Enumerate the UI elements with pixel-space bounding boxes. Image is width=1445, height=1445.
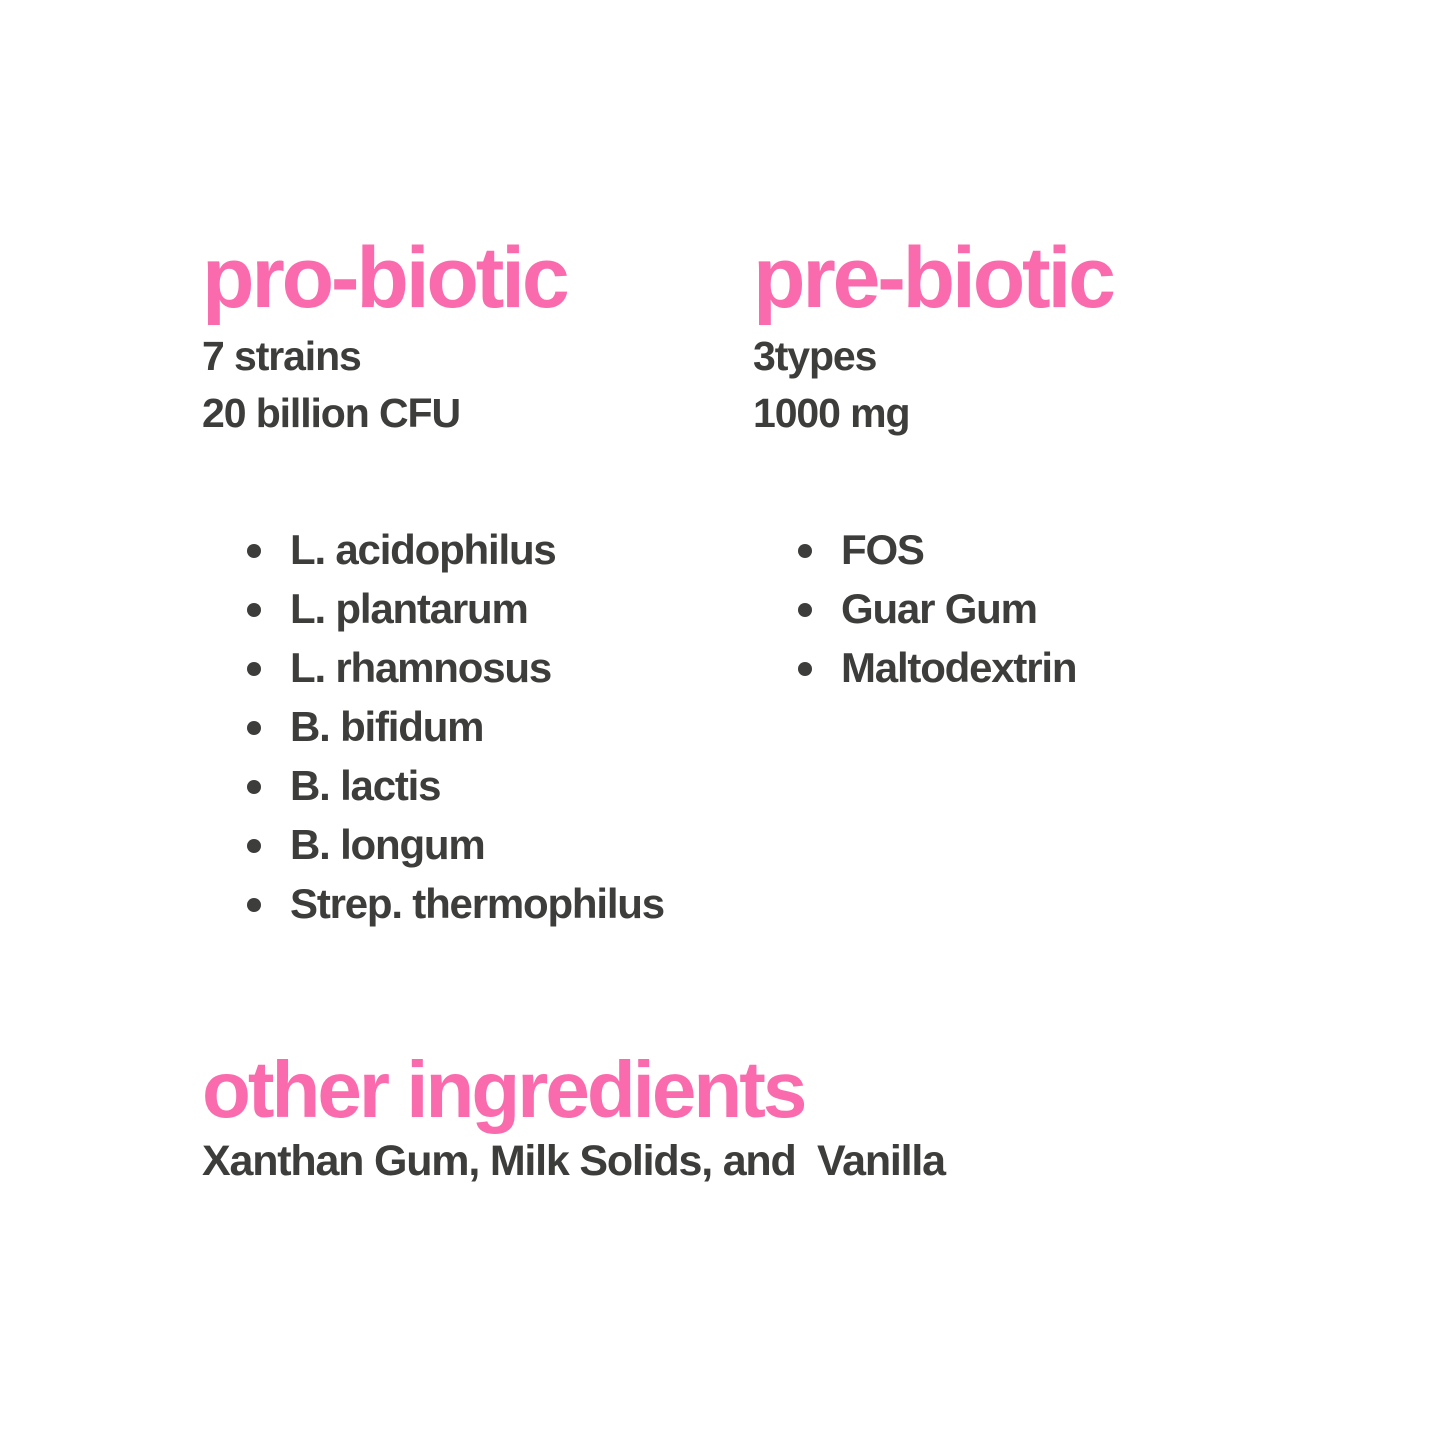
other-ingredients-list: Xanthan Gum, Milk Solids, and Vanilla: [202, 1135, 1302, 1189]
bullet-dot-icon: [798, 544, 812, 558]
ingredient-panel: pro-biotic 7 strains 20 billion CFU L. a…: [0, 0, 1445, 1445]
other-ingredients-heading: other ingredients: [202, 1051, 1302, 1129]
probiotic-heading: pro-biotic: [202, 236, 747, 320]
list-item: Maltodextrin: [795, 638, 1076, 697]
list-item-label: Strep. thermophilus: [290, 880, 664, 927]
list-item: L. acidophilus: [244, 520, 664, 579]
list-item-label: L. rhamnosus: [290, 644, 551, 691]
bullet-dot-icon: [798, 603, 812, 617]
prebiotic-type-count: 3types: [753, 328, 1298, 385]
bullet-dot-icon: [247, 780, 261, 794]
probiotic-strain-count: 7 strains: [202, 328, 747, 385]
prebiotic-column: pre-biotic 3types 1000 mg FOS Guar Gum M…: [753, 236, 1298, 441]
list-item: Strep. thermophilus: [244, 874, 664, 933]
probiotic-subtitles: 7 strains 20 billion CFU: [202, 328, 747, 441]
bullet-dot-icon: [247, 603, 261, 617]
list-item-label: L. plantarum: [290, 585, 528, 632]
list-item-label: B. lactis: [290, 762, 440, 809]
bullet-dot-icon: [247, 662, 261, 676]
bullet-dot-icon: [247, 544, 261, 558]
list-item-label: Guar Gum: [841, 585, 1037, 632]
prebiotic-heading: pre-biotic: [753, 236, 1298, 320]
list-item: FOS: [795, 520, 1076, 579]
list-item: B. longum: [244, 815, 664, 874]
prebiotic-dosage: 1000 mg: [753, 385, 1298, 442]
bullet-dot-icon: [247, 721, 261, 735]
bullet-dot-icon: [247, 839, 261, 853]
prebiotic-type-list: FOS Guar Gum Maltodextrin: [795, 520, 1076, 697]
list-item: L. plantarum: [244, 579, 664, 638]
list-item: L. rhamnosus: [244, 638, 664, 697]
list-item-label: B. bifidum: [290, 703, 483, 750]
bullet-dot-icon: [247, 898, 261, 912]
probiotic-cfu-count: 20 billion CFU: [202, 385, 747, 442]
prebiotic-subtitles: 3types 1000 mg: [753, 328, 1298, 441]
probiotic-strain-list: L. acidophilus L. plantarum L. rhamnosus…: [244, 520, 664, 933]
list-item-label: FOS: [841, 526, 924, 573]
list-item-label: B. longum: [290, 821, 485, 868]
list-item: B. lactis: [244, 756, 664, 815]
probiotic-column: pro-biotic 7 strains 20 billion CFU L. a…: [202, 236, 747, 441]
list-item: Guar Gum: [795, 579, 1076, 638]
bullet-dot-icon: [798, 662, 812, 676]
other-ingredients-section: other ingredients Xanthan Gum, Milk Soli…: [202, 1051, 1302, 1189]
list-item-label: Maltodextrin: [841, 644, 1076, 691]
list-item: B. bifidum: [244, 697, 664, 756]
list-item-label: L. acidophilus: [290, 526, 556, 573]
